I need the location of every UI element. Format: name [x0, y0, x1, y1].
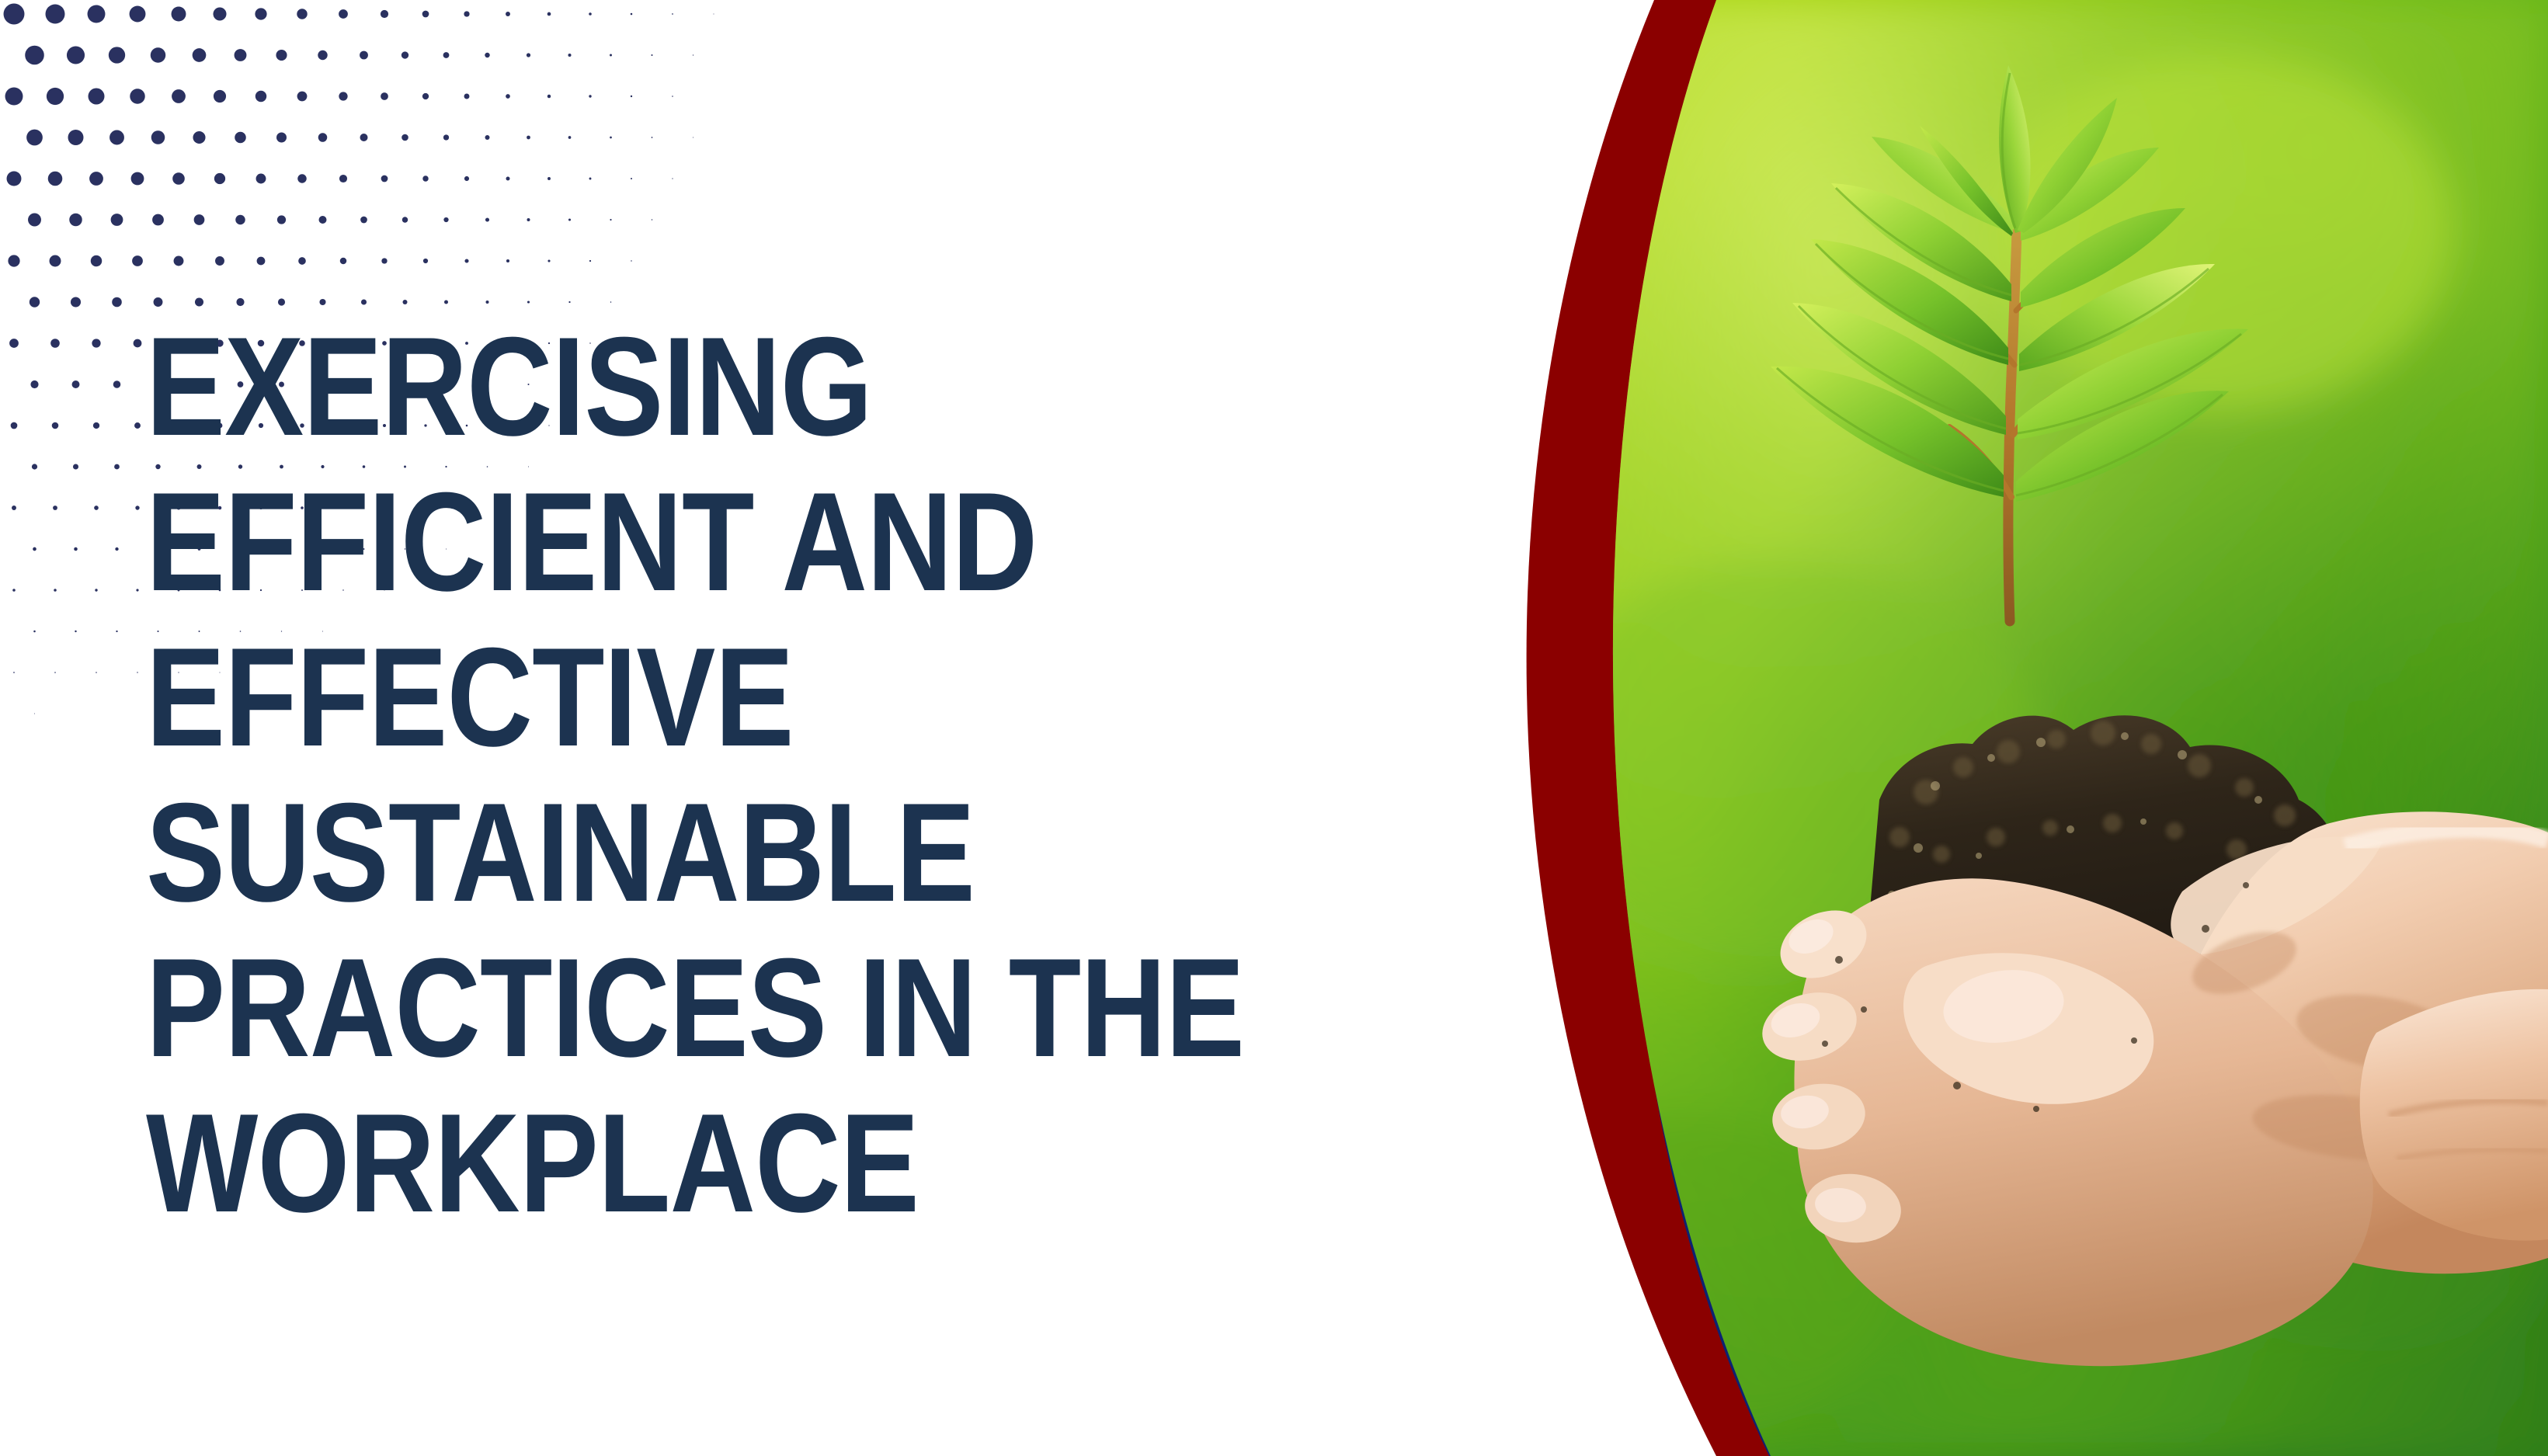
- halftone-dot: [340, 258, 346, 264]
- halftone-dot: [589, 178, 592, 180]
- halftone-dot: [130, 6, 146, 23]
- halftone-dot: [174, 256, 184, 266]
- halftone-dot: [297, 92, 308, 102]
- halftone-dot: [318, 50, 327, 60]
- halftone-dot: [109, 130, 124, 145]
- halftone-dot: [5, 88, 23, 106]
- halftone-dot: [506, 12, 510, 16]
- halftone-dot: [278, 298, 285, 305]
- halftone-dot: [402, 300, 407, 304]
- halftone-dot: [464, 94, 470, 99]
- halftone-dot: [589, 95, 591, 97]
- halftone-dot: [651, 54, 652, 56]
- halftone-dot: [4, 4, 25, 25]
- halftone-dot: [94, 506, 99, 510]
- halftone-dot: [423, 259, 428, 263]
- halftone-dot: [672, 178, 673, 179]
- halftone-dot: [54, 672, 56, 673]
- halftone-dot: [213, 7, 226, 20]
- halftone-dot: [714, 14, 714, 15]
- halftone-dot: [631, 178, 632, 179]
- halftone-dot: [75, 631, 76, 632]
- halftone-dot: [130, 89, 144, 103]
- halftone-dot: [485, 301, 488, 304]
- halftone-dot: [91, 255, 102, 266]
- halftone-dot: [547, 177, 551, 180]
- title-line-6: WORKPLACE: [146, 1086, 1222, 1241]
- halftone-dot: [32, 464, 37, 469]
- halftone-dot: [114, 464, 120, 470]
- halftone-dot: [547, 259, 550, 262]
- halftone-dot: [443, 134, 449, 140]
- halftone-dot: [8, 255, 19, 266]
- halftone-dot: [319, 299, 325, 305]
- halftone-dot: [152, 214, 164, 226]
- halftone-dot: [422, 175, 428, 181]
- halftone-dot: [96, 672, 97, 673]
- halftone-dot: [30, 381, 38, 388]
- halftone-dot: [193, 131, 205, 144]
- halftone-dot: [26, 130, 43, 146]
- halftone-dot: [172, 172, 185, 185]
- halftone-dot: [12, 506, 16, 510]
- halftone-dot: [527, 301, 530, 303]
- halftone-dot: [88, 5, 106, 23]
- halftone-dot: [610, 301, 612, 303]
- halftone-dot: [113, 381, 121, 388]
- halftone-dot: [589, 12, 592, 16]
- halftone-dot: [255, 91, 266, 102]
- title-line-4: SUSTAINABLE: [146, 775, 1222, 930]
- halftone-dot: [151, 130, 165, 144]
- halftone-dot: [672, 13, 673, 15]
- halftone-dot: [255, 8, 266, 19]
- halftone-dot: [69, 214, 82, 226]
- halftone-dot: [46, 5, 65, 24]
- title-slide: EXERCISING EFFICIENT AND EFFECTIVE SUSTA…: [0, 0, 2548, 1456]
- halftone-dot: [257, 257, 266, 266]
- halftone-dot: [89, 89, 105, 105]
- halftone-dot: [109, 47, 125, 63]
- halftone-dot: [631, 260, 631, 261]
- halftone-dot: [214, 90, 226, 103]
- halftone-dot: [13, 672, 15, 673]
- halftone-dot: [506, 177, 510, 181]
- halftone-dot: [12, 589, 16, 592]
- halftone-dot: [95, 589, 97, 591]
- halftone-dot: [360, 134, 367, 141]
- halftone-dot: [93, 422, 99, 429]
- halftone-dot: [652, 137, 653, 138]
- halftone-dot: [236, 298, 244, 306]
- halftone-dot: [361, 299, 367, 304]
- title-line-2: EFFICIENT AND: [146, 464, 1222, 620]
- halftone-dot: [193, 48, 207, 62]
- halftone-dot: [568, 136, 572, 139]
- halftone-dot: [54, 589, 57, 592]
- halftone-dot: [360, 51, 368, 60]
- title-line-3: EFFECTIVE: [146, 620, 1222, 775]
- halftone-dot: [9, 339, 19, 348]
- halftone-dot: [214, 173, 225, 184]
- halftone-dot: [443, 217, 448, 222]
- halftone-dot: [33, 547, 36, 551]
- halftone-dot: [50, 339, 60, 348]
- halftone-dot: [34, 714, 35, 714]
- halftone-dot: [610, 219, 611, 221]
- halftone-dot: [610, 137, 612, 139]
- halftone-dot: [135, 506, 139, 509]
- halftone-dot: [672, 96, 673, 97]
- halftone-dot: [92, 339, 100, 347]
- halftone-dot: [339, 175, 347, 182]
- halftone-dot: [235, 132, 246, 144]
- halftone-dot: [339, 92, 347, 100]
- title-line-5: PRACTICES IN THE: [146, 930, 1222, 1086]
- halftone-dot: [527, 53, 530, 57]
- halftone-dot: [25, 46, 44, 65]
- halftone-dot: [485, 217, 489, 221]
- halftone-dot: [485, 135, 490, 140]
- halftone-dot: [112, 297, 122, 308]
- halftone-dot: [116, 631, 117, 632]
- halftone-dot: [297, 174, 306, 182]
- halftone-dot: [381, 175, 388, 182]
- halftone-dot: [506, 94, 510, 99]
- halftone-dot: [89, 172, 103, 186]
- halftone-dot: [53, 506, 57, 510]
- halftone-dot: [72, 381, 80, 388]
- halftone-dot: [381, 92, 388, 100]
- halftone-dot: [28, 214, 41, 227]
- halftone-dot: [172, 7, 186, 22]
- halftone-dot: [568, 301, 570, 303]
- halftone-dot: [464, 11, 469, 16]
- halftone-dot: [172, 89, 186, 103]
- halftone-dot: [631, 96, 632, 97]
- halftone-dot: [134, 339, 142, 348]
- halftone-dot: [631, 13, 633, 16]
- halftone-dot: [235, 49, 247, 61]
- halftone-dot: [11, 422, 18, 429]
- halftone-dot: [547, 12, 551, 16]
- halftone-dot: [422, 93, 429, 99]
- halftone-dot: [464, 259, 468, 262]
- halftone-dot: [401, 51, 408, 58]
- halftone-dot: [568, 218, 571, 221]
- halftone-dot: [444, 301, 448, 304]
- halftone-dot: [527, 218, 530, 221]
- halftone-dot: [547, 95, 551, 98]
- halftone-dot: [443, 52, 450, 58]
- halftone-dot: [47, 88, 64, 105]
- halftone-dot: [132, 255, 143, 266]
- halftone-dot: [215, 256, 224, 266]
- halftone-dot: [235, 215, 245, 225]
- halftone-dot: [381, 258, 387, 263]
- halftone-dot: [360, 217, 367, 224]
- halftone-dot: [464, 176, 469, 181]
- title-line-1: EXERCISING: [146, 309, 1222, 464]
- halftone-dot: [7, 172, 22, 186]
- halftone-dot: [652, 219, 652, 220]
- halftone-dot: [381, 10, 388, 18]
- halftone-dot: [195, 297, 203, 306]
- halftone-dot: [151, 47, 165, 62]
- halftone-dot: [134, 422, 141, 429]
- halftone-dot: [485, 53, 489, 57]
- halftone-dot: [589, 260, 591, 262]
- halftone-dot: [115, 547, 118, 551]
- halftone-dot: [693, 137, 693, 137]
- halftone-dot: [131, 172, 144, 186]
- halftone-dot: [48, 172, 63, 186]
- halftone-dot: [298, 257, 306, 265]
- halftone-dot: [136, 589, 138, 591]
- page-title: EXERCISING EFFICIENT AND EFFECTIVE SUSTA…: [146, 309, 1420, 1241]
- halftone-dot: [137, 672, 137, 672]
- halftone-dot: [527, 136, 530, 140]
- halftone-dot: [610, 54, 612, 57]
- halftone-dot: [33, 631, 36, 633]
- halftone-dot: [50, 255, 61, 267]
- halftone-dot: [568, 54, 571, 57]
- halftone-dot: [256, 174, 266, 184]
- halftone-dot: [693, 54, 693, 55]
- halftone-dot: [402, 217, 408, 222]
- halftone-dot: [73, 464, 78, 469]
- halftone-dot: [401, 134, 408, 141]
- halftone-dot: [74, 547, 78, 551]
- halftone-dot: [111, 214, 123, 226]
- decorative-curve-photo-panel: [1460, 0, 2548, 1456]
- halftone-dot: [277, 215, 286, 224]
- halftone-dot: [52, 422, 59, 429]
- halftone-dot: [319, 216, 327, 224]
- halftone-dot: [68, 130, 84, 145]
- halftone-dot: [67, 46, 85, 64]
- halftone-dot: [506, 259, 509, 262]
- halftone-dot: [154, 297, 163, 307]
- halftone-dot: [339, 9, 348, 19]
- halftone-dot: [276, 133, 287, 143]
- halftone-dot: [422, 11, 429, 18]
- halftone-dot: [318, 133, 328, 142]
- halftone-dot: [297, 9, 307, 19]
- halftone-dot: [30, 297, 40, 307]
- halftone-dot: [71, 297, 81, 307]
- halftone-dot: [194, 214, 205, 225]
- halftone-dot: [276, 50, 287, 61]
